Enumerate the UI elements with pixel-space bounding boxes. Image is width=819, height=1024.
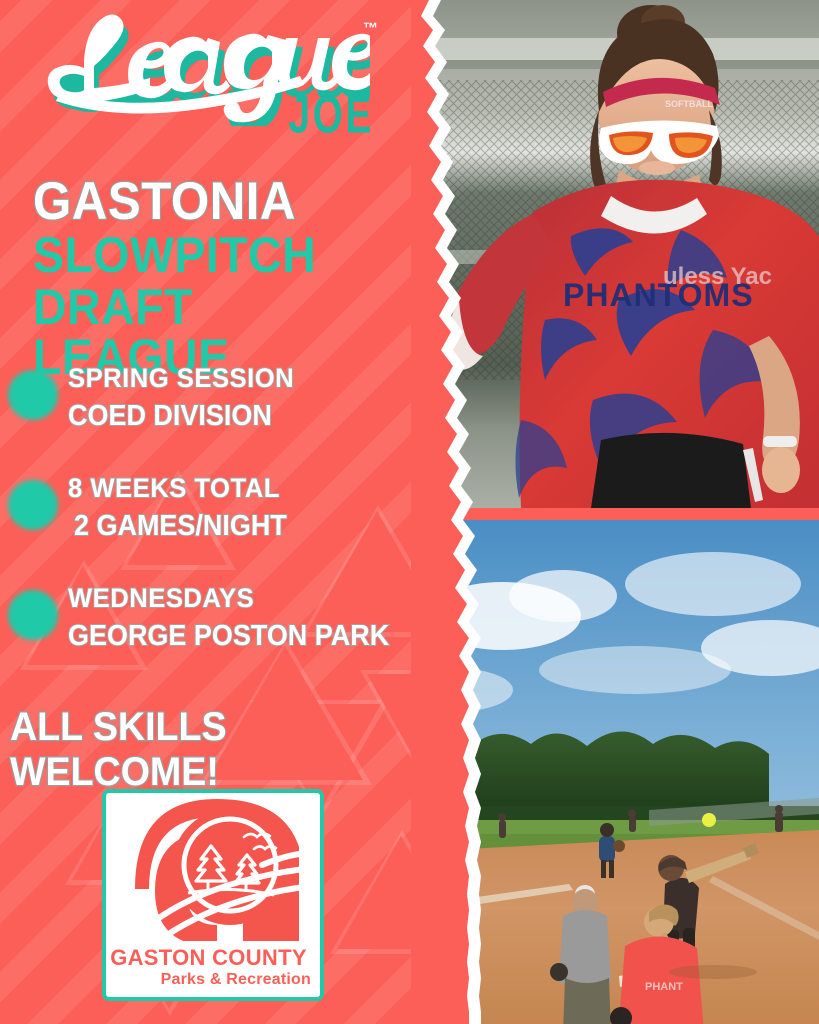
league-joe-logo: ™ JOE bbox=[40, 14, 390, 149]
detail-line-secondary: GEORGE POSTON PARK bbox=[68, 618, 403, 654]
detail-line-secondary: 2 GAMES/NIGHT bbox=[74, 508, 403, 544]
tagline-text: ALL SKILLS WELCOME! bbox=[10, 705, 405, 795]
poster-flyer: SOFTBALL bbox=[0, 0, 819, 1024]
detail-line-primary: 8 WEEKS TOTAL bbox=[68, 472, 410, 506]
logo-joe-text: JOE bbox=[288, 85, 374, 145]
svg-text:SOFTBALL: SOFTBALL bbox=[665, 99, 713, 109]
photo-column: SOFTBALL bbox=[413, 0, 819, 1024]
trademark-symbol: ™ bbox=[363, 20, 378, 37]
headline-block: GASTONIA SLOWPITCH DRAFT LEAGUE bbox=[33, 176, 423, 382]
details-list: SPRING SESSION COED DIVISION 8 WEEKS TOT… bbox=[0, 362, 430, 692]
gaston-county-logo-card: GASTON COUNTY Parks & Recreation bbox=[102, 789, 324, 1001]
headline-city: GASTONIA bbox=[33, 176, 396, 228]
gaston-county-emblem-icon bbox=[112, 795, 322, 947]
detail-item: 8 WEEKS TOTAL 2 GAMES/NIGHT bbox=[0, 472, 430, 582]
bullet-dot-icon bbox=[8, 370, 58, 420]
detail-line-primary: SPRING SESSION bbox=[68, 362, 410, 396]
content-column: ™ JOE GASTONIA SLOWPITCH DRAFT LEAGUE SP… bbox=[0, 0, 430, 1024]
torn-paper-edge bbox=[411, 0, 481, 1024]
county-logo-subtitle: Parks & Recreation bbox=[161, 971, 311, 989]
svg-text:uless Yac: uless Yac bbox=[663, 263, 772, 290]
headline-sport: SLOWPITCH bbox=[33, 230, 396, 280]
svg-text:PHANT: PHANT bbox=[645, 981, 683, 993]
detail-line-primary: WEDNESDAYS bbox=[68, 582, 410, 616]
detail-item: WEDNESDAYS GEORGE POSTON PARK bbox=[0, 582, 430, 692]
bullet-dot-icon bbox=[8, 480, 58, 530]
county-logo-name: GASTON COUNTY bbox=[106, 945, 311, 971]
detail-item: SPRING SESSION COED DIVISION bbox=[0, 362, 430, 472]
bullet-dot-icon bbox=[8, 590, 58, 640]
detail-line-secondary: COED DIVISION bbox=[68, 398, 403, 434]
